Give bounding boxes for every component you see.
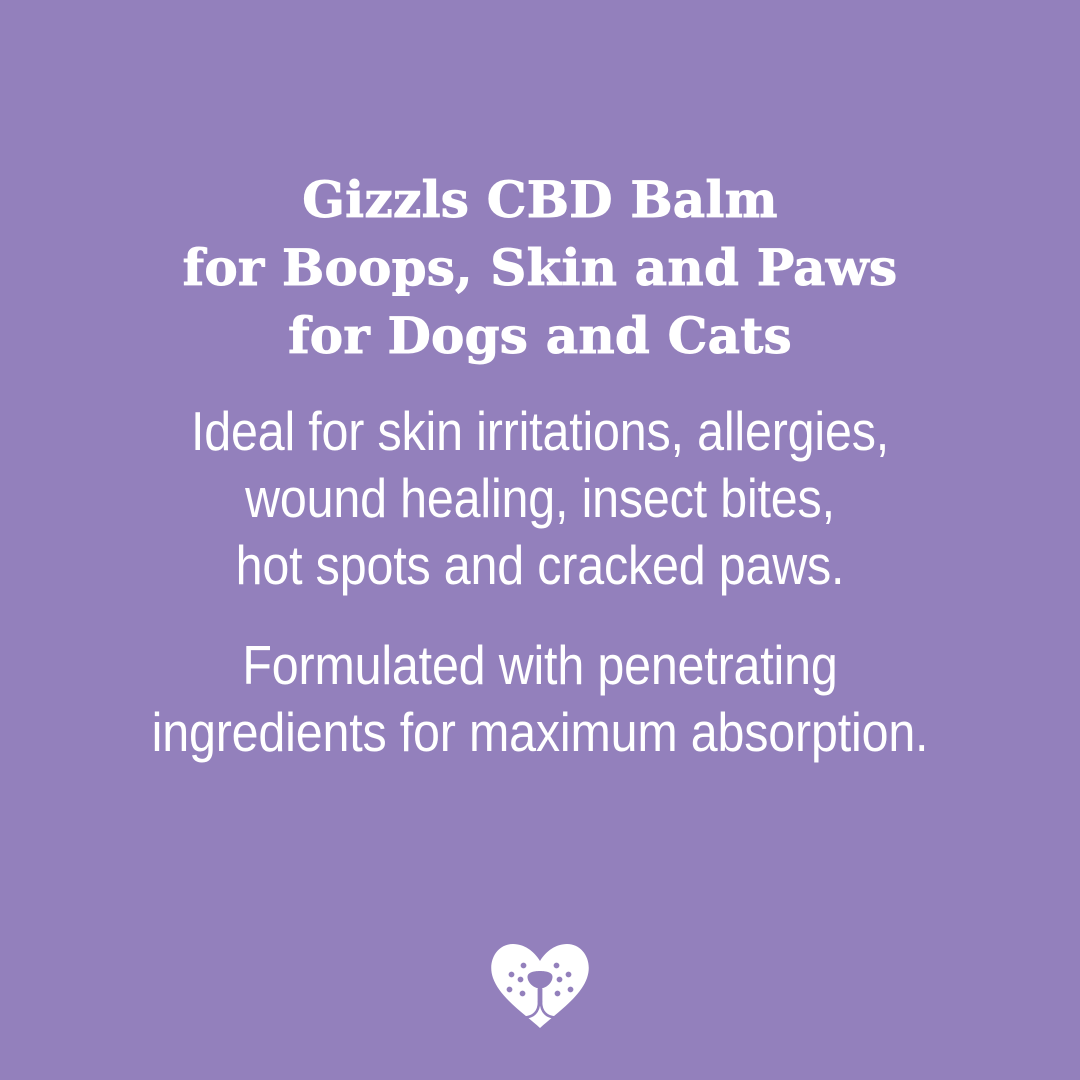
- page-title: Gizzls CBD Balm for Boops, Skin and Paws…: [0, 166, 1080, 370]
- title-line-1: Gizzls CBD Balm: [0, 166, 1080, 234]
- title-line-3: for Dogs and Cats: [0, 302, 1080, 370]
- paragraph-2-line-2: ingredients for maximum absorption.: [65, 699, 1015, 766]
- description-paragraph-2: Formulated with penetrating ingredients …: [65, 632, 1015, 766]
- title-line-2: for Boops, Skin and Paws: [0, 234, 1080, 302]
- paragraph-1-line-1: Ideal for skin irritations, allergies,: [65, 398, 1015, 465]
- paragraph-1-line-2: wound healing, insect bites,: [65, 465, 1015, 532]
- paragraph-2-line-1: Formulated with penetrating: [65, 632, 1015, 699]
- description-paragraph-1: Ideal for skin irritations, allergies, w…: [65, 398, 1015, 599]
- heart-with-dog-snout-icon: [486, 936, 594, 1032]
- brand-logo: [486, 936, 594, 1032]
- promo-card: Gizzls CBD Balm for Boops, Skin and Paws…: [0, 0, 1080, 1080]
- paragraph-1-line-3: hot spots and cracked paws.: [65, 532, 1015, 599]
